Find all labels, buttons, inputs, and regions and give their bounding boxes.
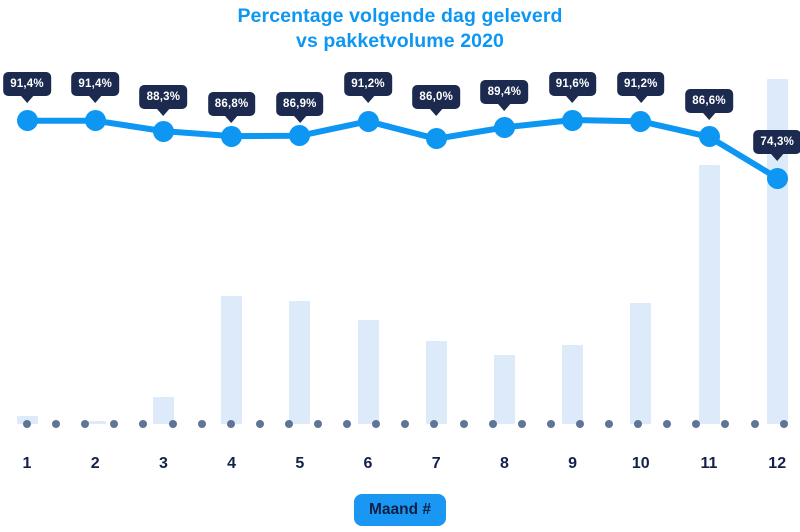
data-label-month-5: 86,9% bbox=[276, 92, 324, 116]
data-label-month-8: 89,4% bbox=[481, 80, 529, 104]
data-label-month-6: 91,2% bbox=[344, 72, 392, 96]
data-label-month-1: 91,4% bbox=[3, 72, 51, 96]
line-marker-month-8[interactable] bbox=[494, 117, 515, 138]
line-marker-month-10[interactable] bbox=[630, 111, 651, 132]
line-marker-month-9[interactable] bbox=[562, 110, 583, 131]
x-tick-8: 8 bbox=[500, 455, 509, 473]
x-tick-1: 1 bbox=[23, 455, 32, 473]
data-label-month-3: 88,3% bbox=[140, 85, 188, 109]
line-marker-month-2[interactable] bbox=[85, 110, 106, 131]
x-tick-9: 9 bbox=[568, 455, 577, 473]
line-marker-month-12[interactable] bbox=[767, 168, 788, 189]
x-tick-4: 4 bbox=[227, 455, 236, 473]
line-marker-month-11[interactable] bbox=[699, 126, 720, 147]
line-marker-month-3[interactable] bbox=[153, 121, 174, 142]
x-tick-3: 3 bbox=[159, 455, 168, 473]
x-tick-11: 11 bbox=[701, 455, 718, 473]
x-tick-6: 6 bbox=[364, 455, 373, 473]
chart-root: Percentage volgende dag geleverd vs pakk… bbox=[0, 0, 800, 532]
plot-area: 91,4%91,4%88,3%86,8%86,9%91,2%86,0%89,4%… bbox=[0, 0, 800, 448]
line-marker-month-4[interactable] bbox=[221, 126, 242, 147]
line-marker-month-7[interactable] bbox=[426, 128, 447, 149]
data-label-month-10: 91,2% bbox=[617, 72, 665, 96]
data-label-month-4: 86,8% bbox=[208, 92, 256, 116]
line-marker-month-1[interactable] bbox=[17, 110, 38, 131]
x-tick-5: 5 bbox=[295, 455, 304, 473]
data-label-month-12: 74,3% bbox=[753, 130, 800, 154]
line-marker-month-6[interactable] bbox=[358, 111, 379, 132]
x-tick-10: 10 bbox=[632, 455, 650, 473]
data-label-month-11: 86,6% bbox=[685, 89, 733, 113]
x-tick-7: 7 bbox=[432, 455, 441, 473]
data-label-month-7: 86,0% bbox=[412, 85, 460, 109]
data-label-month-2: 91,4% bbox=[71, 72, 119, 96]
line-series-svg bbox=[0, 0, 800, 448]
x-tick-12: 12 bbox=[768, 455, 786, 473]
data-label-month-9: 91,6% bbox=[549, 72, 597, 96]
x-tick-2: 2 bbox=[91, 455, 100, 473]
x-axis-title-pill[interactable]: Maand # bbox=[354, 494, 446, 526]
